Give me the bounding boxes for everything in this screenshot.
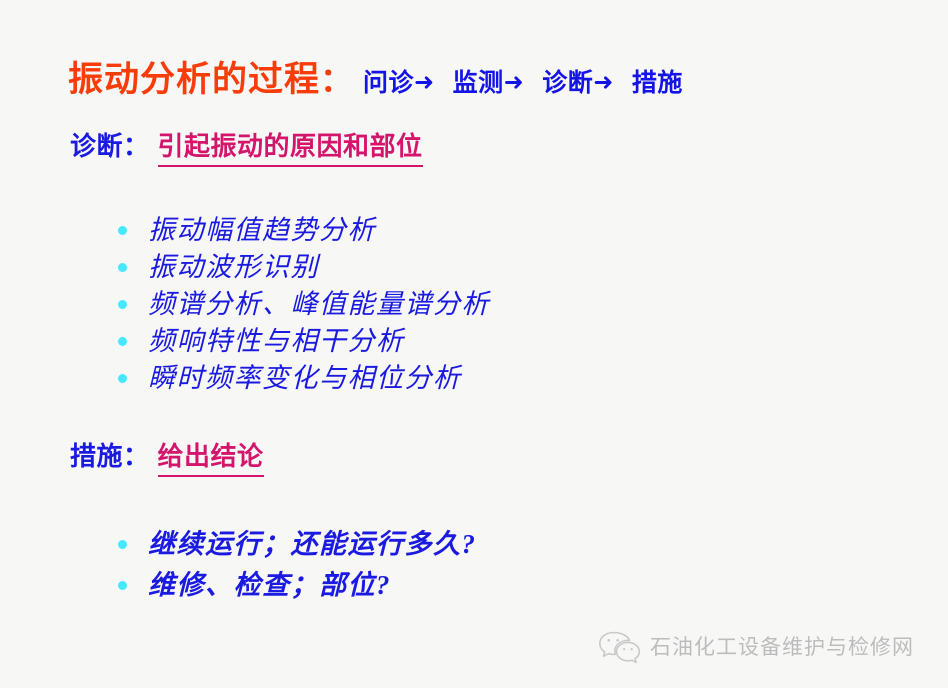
section-label-measures: 措施：: [70, 443, 150, 469]
section-label-diagnosis: 诊断：: [70, 133, 150, 159]
wechat-icon: [598, 630, 640, 664]
list-item: 频响特性与相干分析: [118, 323, 490, 360]
flow-step-3: 诊断: [542, 69, 593, 97]
arrow-right-icon-2: ➜: [504, 71, 525, 95]
list-item-label: 振动波形识别: [148, 254, 319, 281]
list-item-label: 频谱分析、峰值能量谱分析: [148, 291, 490, 318]
bullet-dot-icon: [118, 374, 127, 383]
flow-step-4: 措施: [632, 69, 683, 97]
list-item: 继续运行；还能运行多久?: [118, 524, 477, 565]
title-colon: ：: [320, 63, 353, 96]
flow-step-2: 监测: [453, 69, 504, 97]
list-item-label: 振动幅值趋势分析: [148, 217, 376, 244]
footer-watermark: 石油化工设备维护与检修网: [598, 630, 914, 664]
arrow-right-icon-3: ➜: [593, 71, 614, 95]
bullet-dot-icon: [118, 226, 127, 235]
list-item: 振动波形识别: [118, 249, 490, 286]
section-header-diagnosis: 诊断： 引起振动的原因和部位: [70, 133, 423, 167]
bullet-dot-icon: [118, 263, 127, 272]
page-title: 振动分析的过程 ： 问诊➜监测➜诊断➜措施: [68, 62, 683, 97]
bullet-list-diagnosis: 振动幅值趋势分析 振动波形识别 频谱分析、峰值能量谱分析 频响特性与相干分析 瞬…: [118, 212, 490, 397]
section-value-diagnosis: 引起振动的原因和部位: [158, 133, 423, 167]
list-item: 瞬时频率变化与相位分析: [118, 360, 490, 397]
bullet-dot-icon: [118, 300, 127, 309]
list-item: 频谱分析、峰值能量谱分析: [118, 286, 490, 323]
list-item: 振动幅值趋势分析: [118, 212, 490, 249]
slide-canvas: 振动分析的过程 ： 问诊➜监测➜诊断➜措施 诊断： 引起振动的原因和部位 振动幅…: [0, 0, 948, 688]
list-item-label: 继续运行；还能运行多久?: [148, 531, 477, 558]
section-value-measures: 给出结论: [158, 443, 264, 477]
bullet-list-measures: 继续运行；还能运行多久? 维修、检查；部位?: [118, 524, 477, 606]
bullet-dot-icon: [118, 540, 127, 549]
process-flow: 问诊➜监测➜诊断➜措施: [363, 71, 683, 96]
bullet-dot-icon: [118, 337, 127, 346]
flow-step-1: 问诊: [363, 69, 414, 97]
list-item-label: 维修、检查；部位?: [148, 572, 391, 599]
footer-text: 石油化工设备维护与检修网: [650, 637, 914, 658]
section-header-measures: 措施： 给出结论: [70, 443, 264, 477]
title-main-text: 振动分析的过程: [68, 62, 320, 97]
list-item: 维修、检查；部位?: [118, 565, 477, 606]
arrow-right-icon-1: ➜: [414, 71, 435, 95]
list-item-label: 频响特性与相干分析: [148, 328, 405, 355]
bullet-dot-icon: [118, 581, 127, 590]
list-item-label: 瞬时频率变化与相位分析: [148, 365, 462, 392]
